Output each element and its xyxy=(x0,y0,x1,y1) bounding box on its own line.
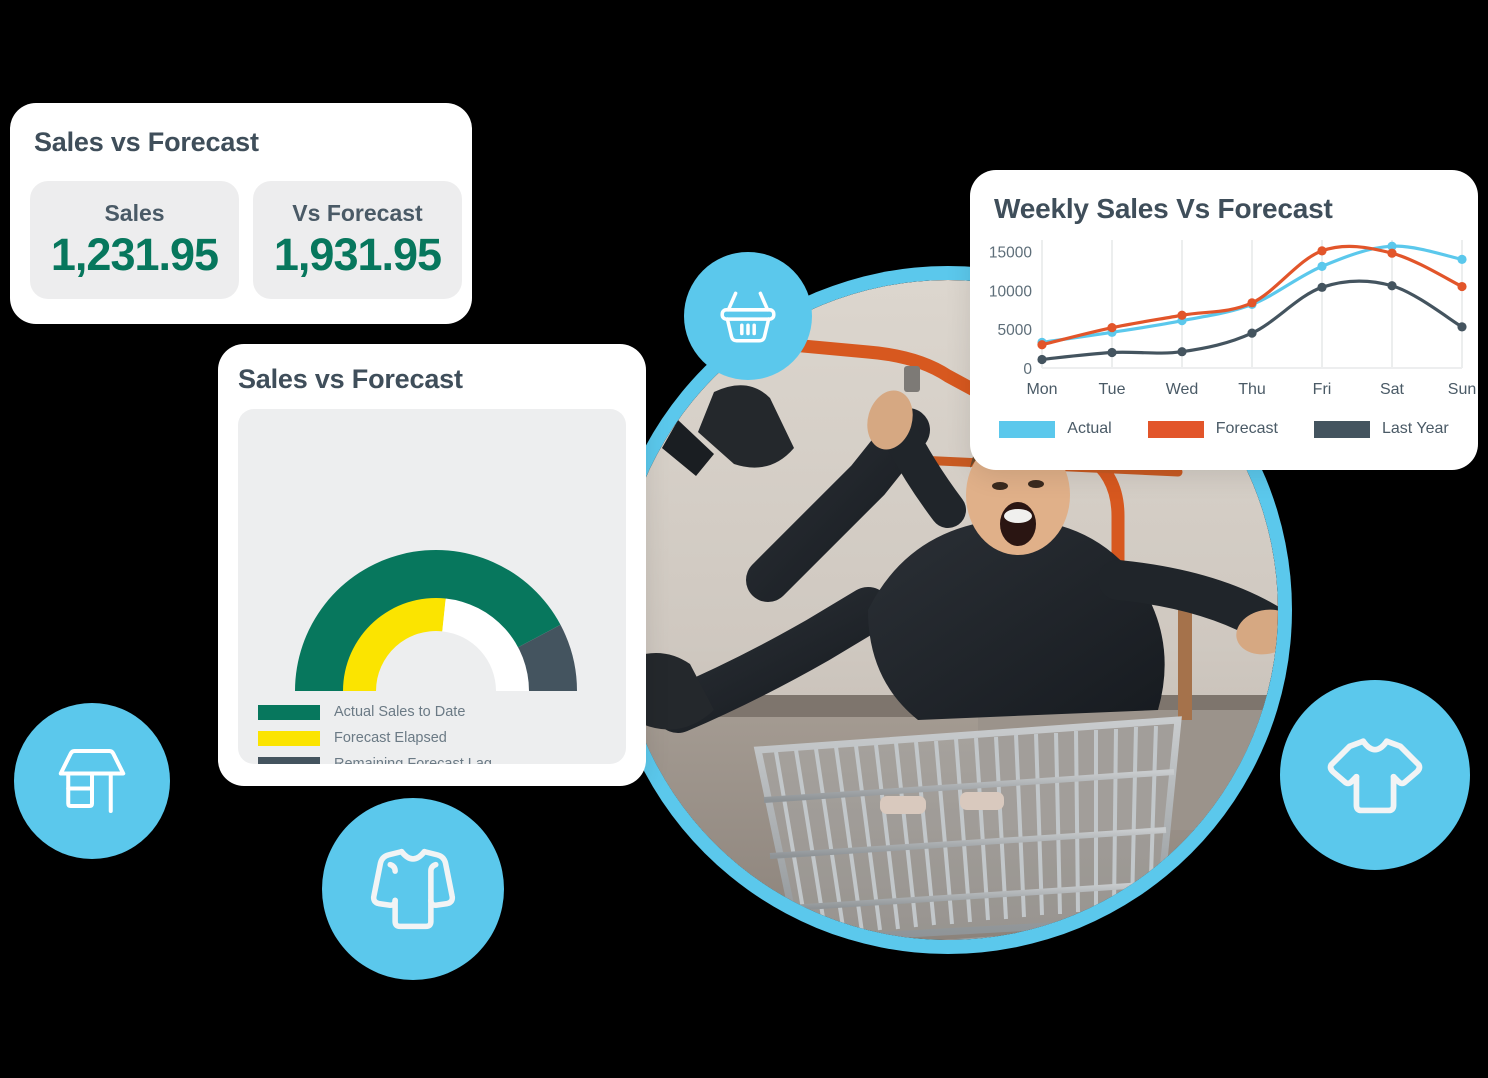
kpi-value: 1,931.95 xyxy=(274,229,441,281)
svg-text:Sat: Sat xyxy=(1380,381,1405,398)
composition-stage: Sales vs Forecast Sales 1,231.95 Vs Fore… xyxy=(0,0,1488,1078)
line-card-title: Weekly Sales Vs Forecast xyxy=(994,193,1333,225)
kpi-tile-sales: Sales 1,231.95 xyxy=(30,181,239,299)
legend-item: Forecast Elapsed xyxy=(258,725,502,751)
storefront-icon-badge xyxy=(14,703,170,859)
legend-label: Actual xyxy=(1067,420,1111,438)
legend-swatch-actual xyxy=(999,421,1055,438)
legend-swatch-actual-sales-to-date xyxy=(258,705,320,720)
line-chart-area: 050001000015000MonTueWedThuFriSatSun xyxy=(970,232,1478,412)
legend-label: Last Year xyxy=(1382,420,1449,438)
legend-label: Actual Sales to Date xyxy=(334,704,465,720)
svg-text:Fri: Fri xyxy=(1313,381,1332,398)
svg-text:5000: 5000 xyxy=(998,322,1033,339)
legend-item-last-year[interactable]: Last Year xyxy=(1314,420,1449,438)
kpi-label: Sales xyxy=(104,200,164,227)
sweater-icon-badge xyxy=(322,798,504,980)
svg-text:15000: 15000 xyxy=(989,245,1032,262)
tshirt-icon xyxy=(1321,721,1429,829)
svg-text:10000: 10000 xyxy=(989,283,1032,300)
svg-text:Sun: Sun xyxy=(1448,381,1476,398)
legend-item: Remaining Forecast Lag xyxy=(258,751,502,764)
legend-item-forecast[interactable]: Forecast xyxy=(1148,420,1314,438)
legend-swatch-last-year xyxy=(1314,421,1370,438)
legend-item: Actual Sales to Date xyxy=(258,699,502,725)
legend-item-actual[interactable]: Actual xyxy=(999,420,1147,438)
gauge-legend: Actual Sales to Date Forecast Elapsed Re… xyxy=(258,699,502,764)
kpi-card-title: Sales vs Forecast xyxy=(34,127,259,158)
basket-icon-badge xyxy=(684,252,812,380)
line-chart-legend: Actual Forecast Last Year xyxy=(970,420,1478,438)
weekly-sales-line-chart: 050001000015000MonTueWedThuFriSatSun xyxy=(970,232,1478,412)
svg-text:Mon: Mon xyxy=(1026,381,1057,398)
kpi-label: Vs Forecast xyxy=(292,200,422,227)
legend-label: Forecast xyxy=(1216,420,1278,438)
legend-label: Forecast Elapsed xyxy=(334,730,447,746)
legend-swatch-remaining-forecast-lag xyxy=(258,757,320,765)
svg-text:0: 0 xyxy=(1023,361,1032,378)
kpi-value: 1,231.95 xyxy=(51,229,218,281)
svg-text:Tue: Tue xyxy=(1099,381,1126,398)
sweater-icon xyxy=(361,837,465,941)
gauge-panel: Actual Sales to Date Forecast Elapsed Re… xyxy=(238,409,626,764)
kpi-tile-row: Sales 1,231.95 Vs Forecast 1,931.95 xyxy=(30,181,462,299)
gauge-chart xyxy=(238,409,626,706)
legend-swatch-forecast xyxy=(1148,421,1204,438)
storefront-icon xyxy=(52,741,132,821)
svg-text:Thu: Thu xyxy=(1238,381,1266,398)
sales-vs-forecast-gauge-card: Sales vs Forecast Actual Sales to Date F… xyxy=(218,344,646,786)
legend-label: Remaining Forecast Lag xyxy=(334,756,492,764)
basket-icon xyxy=(715,283,781,349)
legend-swatch-forecast-elapsed xyxy=(258,731,320,746)
svg-text:Wed: Wed xyxy=(1166,381,1199,398)
kpi-tile-vs-forecast: Vs Forecast 1,931.95 xyxy=(253,181,462,299)
sales-vs-forecast-kpi-card: Sales vs Forecast Sales 1,231.95 Vs Fore… xyxy=(10,103,472,324)
tshirt-icon-badge xyxy=(1280,680,1470,870)
weekly-sales-vs-forecast-card: Weekly Sales Vs Forecast 050001000015000… xyxy=(970,170,1478,470)
gauge-card-title: Sales vs Forecast xyxy=(238,364,463,395)
